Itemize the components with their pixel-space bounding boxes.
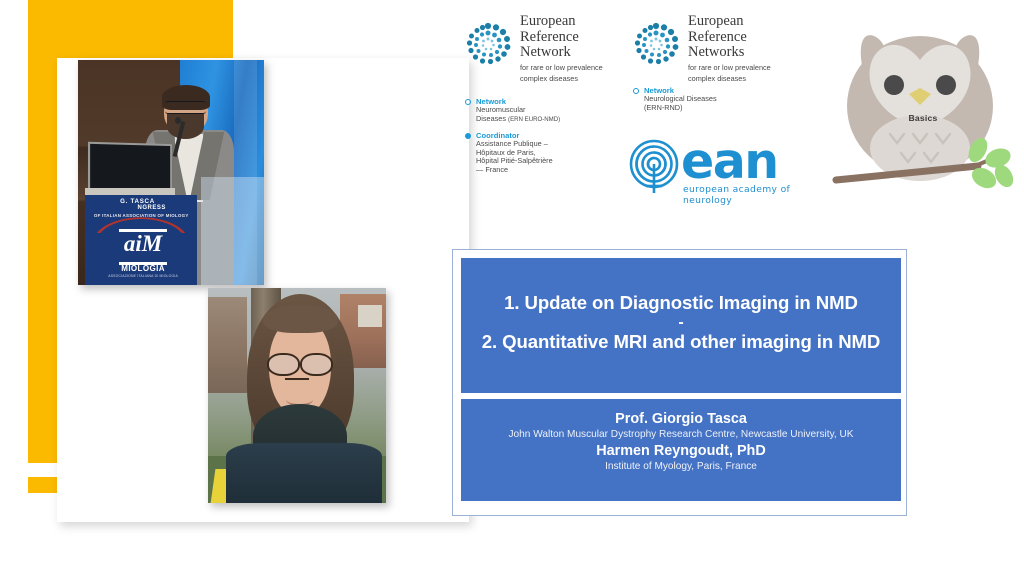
- portrait-building-left: [208, 297, 247, 394]
- ern-rnd-wordmark: European Reference Networks for rare or …: [688, 14, 794, 84]
- title-line-1: 1. Update on Diagnostic Imaging in NMD: [461, 292, 901, 314]
- ean-wordmark: ean: [681, 137, 778, 186]
- portrait-glasses-bridge: [285, 378, 310, 380]
- logo-ean: ean european academy of neurology: [625, 138, 803, 200]
- ean-brain-maze-icon: [625, 138, 685, 196]
- ern-network-code: (ERN EURO-NMD): [508, 116, 560, 123]
- ern-name-line1: European: [520, 14, 626, 30]
- dot-bullet-icon: [465, 133, 471, 139]
- presenter-1-affiliation: John Walton Muscular Dystrophy Research …: [461, 428, 901, 442]
- ern-rnd-subtitle-line2: complex diseases: [688, 75, 794, 84]
- portrait-fringe: [263, 305, 338, 333]
- podium-association-text: OF ITALIAN ASSOCIATION OF MIOLOGY: [85, 213, 197, 218]
- slide-canvas: G. TASCA NGRESS OF ITALIAN ASSOCIATION O…: [0, 0, 1024, 576]
- ring-bullet-icon: [633, 88, 639, 94]
- portrait-coat: [226, 443, 383, 503]
- ring-bullet-icon: [465, 99, 471, 105]
- ern-rnd-subtitle-line1: for rare or low prevalence: [688, 64, 794, 73]
- title-separator: -: [461, 314, 901, 331]
- podium-miologia-text: MIOLOGIA: [108, 264, 179, 273]
- ern-rnd-name-line1: European: [688, 14, 794, 30]
- ern-euro-nmd-wordmark: European Reference Network for rare or l…: [520, 14, 626, 84]
- presenters-banner: Prof. Giorgio Tasca John Walton Muscular…: [461, 399, 901, 501]
- ean-tagline: european academy of neurology: [683, 184, 803, 206]
- ern-rnd-network-code: (ERN-RND): [644, 104, 793, 113]
- logo-ern-euro-nmd: European Reference Network for rare or l…: [462, 14, 627, 164]
- aim-logo: aiM: [119, 229, 167, 265]
- aim-logo-text: aiM: [119, 232, 167, 262]
- glass-panel: [201, 177, 264, 285]
- owl-mascot: Basics: [828, 8, 1018, 194]
- portrait-lens-left: [267, 353, 300, 376]
- portrait-glasses: [267, 353, 333, 372]
- photo-portrait: [208, 288, 386, 503]
- ern-rnd-details: Network Neurological Diseases (ERN-RND): [633, 86, 793, 119]
- presenter-2-name: Harmen Reyngoudt, PhD: [461, 442, 901, 460]
- portrait-building-detail: [358, 305, 383, 327]
- speaker-beard: [167, 114, 204, 139]
- owl-eye-left: [884, 75, 904, 95]
- presenter-1-name: Prof. Giorgio Tasca: [461, 410, 901, 428]
- owl-eye-right: [936, 75, 956, 95]
- ern-coordinator-block: Coordinator Assistance Publique – Hôpita…: [465, 131, 625, 174]
- speaker-glasses: [165, 101, 206, 114]
- ern-network-line2-text: Diseases: [476, 114, 506, 123]
- photo-speaker-podium: G. TASCA NGRESS OF ITALIAN ASSOCIATION O…: [78, 60, 264, 285]
- podium-miologia-subtext: ASSOCIAZIONE ITALIANA DI MIOLOGIA: [108, 274, 179, 278]
- ern-rnd-name-line3: Networks: [688, 45, 794, 61]
- owl-chest-label: Basics: [828, 113, 1018, 123]
- ern-name-line3: Network: [520, 45, 626, 61]
- ern-swirl-icon: [462, 18, 514, 70]
- ern-euro-nmd-details: Network Neuromuscular Diseases (ERN EURO…: [465, 97, 625, 182]
- ern-name-line2: Reference: [520, 30, 626, 46]
- podium-congress-text: NGRESS: [138, 205, 205, 211]
- ern-rnd-swirl-icon: [630, 18, 682, 70]
- ern-network-block: Network Neuromuscular Diseases (ERN EURO…: [465, 97, 625, 124]
- ern-subtitle-line2: complex diseases: [520, 75, 626, 84]
- title-line-2: 2. Quantitative MRI and other imaging in…: [461, 331, 901, 353]
- title-card: 1. Update on Diagnostic Imaging in NMD -…: [452, 249, 907, 516]
- logo-ern-rnd: European Reference Networks for rare or …: [630, 14, 790, 130]
- ern-subtitle-line1: for rare or low prevalence: [520, 64, 626, 73]
- title-banner: 1. Update on Diagnostic Imaging in NMD -…: [461, 258, 901, 393]
- ern-network-line2: Diseases (ERN EURO-NMD): [476, 115, 625, 125]
- portrait-lens-right: [300, 353, 333, 376]
- presenter-2-affiliation: Institute of Myology, Paris, France: [461, 460, 901, 474]
- ern-rnd-network-block: Network Neurological Diseases (ERN-RND): [633, 86, 793, 112]
- ern-rnd-name-line2: Reference: [688, 30, 794, 46]
- ern-coordinator-line4: — France: [476, 166, 625, 175]
